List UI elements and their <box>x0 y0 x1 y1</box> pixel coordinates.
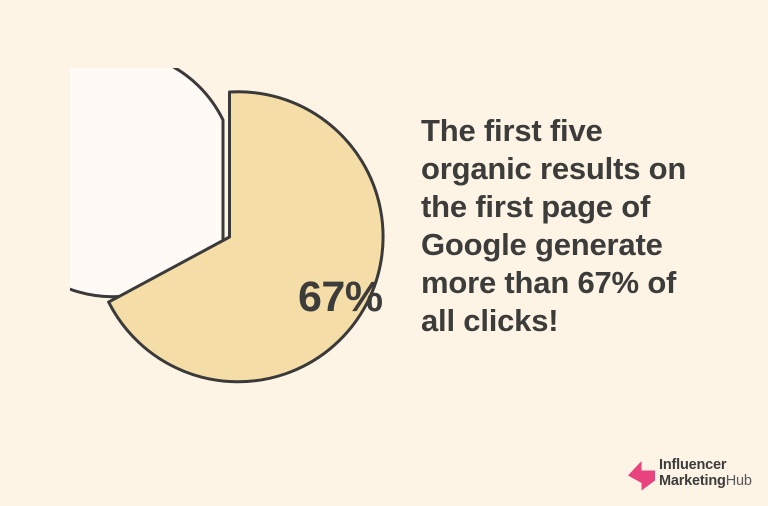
infographic-canvas: 67% The first five organic results on th… <box>0 0 768 506</box>
pie-value-label: 67% <box>298 276 383 319</box>
pie-chart-svg <box>70 68 390 388</box>
logo-marketinghub-text: MarketingHub <box>659 474 752 489</box>
influencer-marketing-hub-logo[interactable]: Influencer MarketingHub <box>628 453 752 493</box>
headline-line-3: the first page of <box>421 188 721 226</box>
headline-line-4: Google generate <box>421 226 721 264</box>
headline-text-block: The first five organic results on the fi… <box>421 112 721 340</box>
logo-wordmark: Influencer MarketingHub <box>659 458 752 489</box>
logo-marketing-text: Marketing <box>659 473 726 489</box>
headline-line-2: organic results on <box>421 150 721 188</box>
headline-line-1: The first five <box>421 112 721 150</box>
pie-chart: 67% <box>70 68 390 388</box>
headline-line-5: more than 67% of <box>421 264 721 302</box>
left-arrow-icon <box>628 460 658 492</box>
logo-influencer-text: Influencer <box>659 458 752 473</box>
headline-line-6: all clicks! <box>421 302 721 340</box>
logo-hub-text: Hub <box>726 473 752 489</box>
